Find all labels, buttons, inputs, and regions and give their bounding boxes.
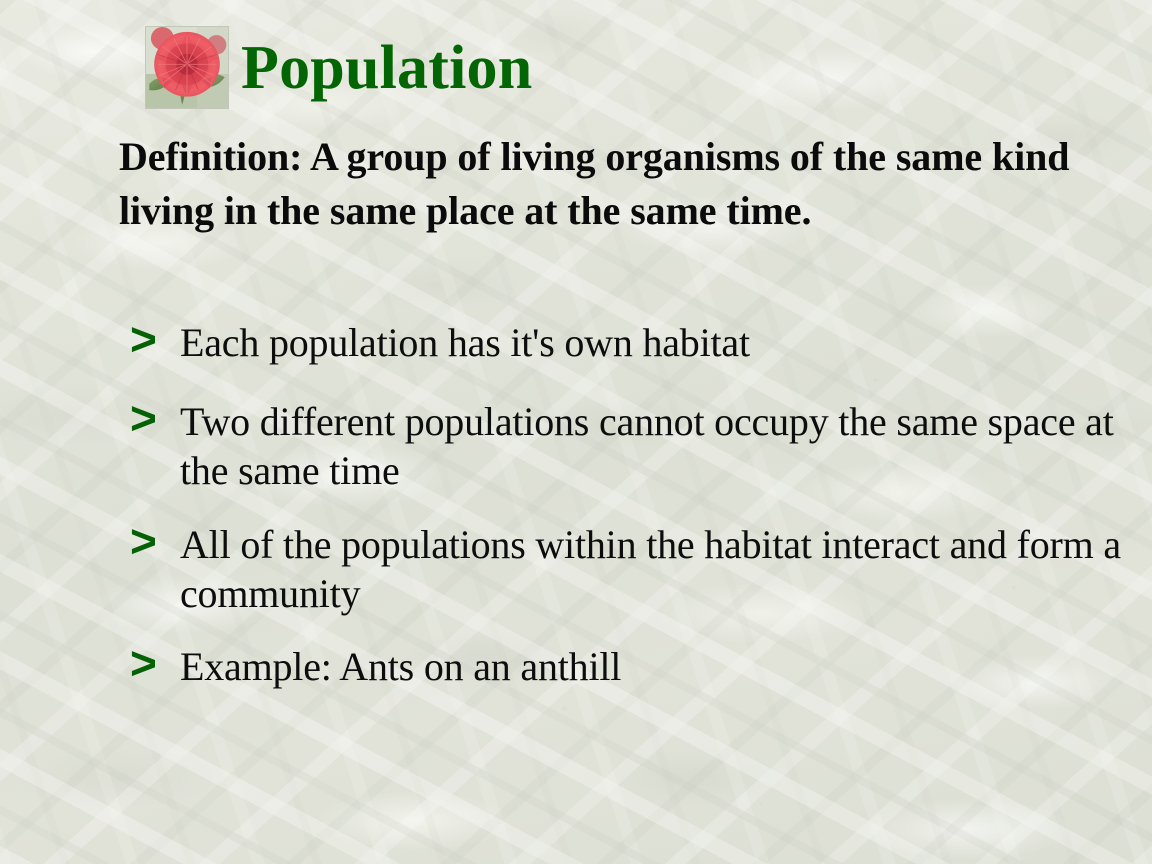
chevron-right-bullet-icon: > — [130, 638, 157, 689]
slide-title-row: Population — [145, 26, 532, 109]
definition-text: Definition: A group of living organisms … — [119, 130, 1094, 238]
list-item-label: All of the populations within the habita… — [180, 522, 1121, 616]
list-item-label: Two different populations cannot occupy … — [180, 399, 1114, 493]
list-item: > Two different populations cannot occup… — [118, 397, 1152, 495]
bullet-list: > Each population has it's own habitat >… — [118, 318, 1152, 691]
list-item: > All of the populations within the habi… — [118, 520, 1152, 618]
chevron-right-bullet-icon: > — [130, 393, 157, 444]
presentation-slide: Population Definition: A group of living… — [0, 0, 1152, 864]
slide-content: Population Definition: A group of living… — [0, 0, 1152, 864]
page-title: Population — [241, 37, 532, 99]
list-item: > Example: Ants on an anthill — [118, 642, 1152, 691]
list-item-label: Example: Ants on an anthill — [180, 644, 621, 689]
flower-image — [145, 26, 229, 109]
chevron-right-bullet-icon: > — [130, 314, 157, 365]
carnation-flower-icon — [146, 27, 228, 108]
list-item: > Each population has it's own habitat — [118, 318, 1152, 367]
chevron-right-bullet-icon: > — [130, 516, 157, 567]
list-item-label: Each population has it's own habitat — [180, 320, 750, 365]
